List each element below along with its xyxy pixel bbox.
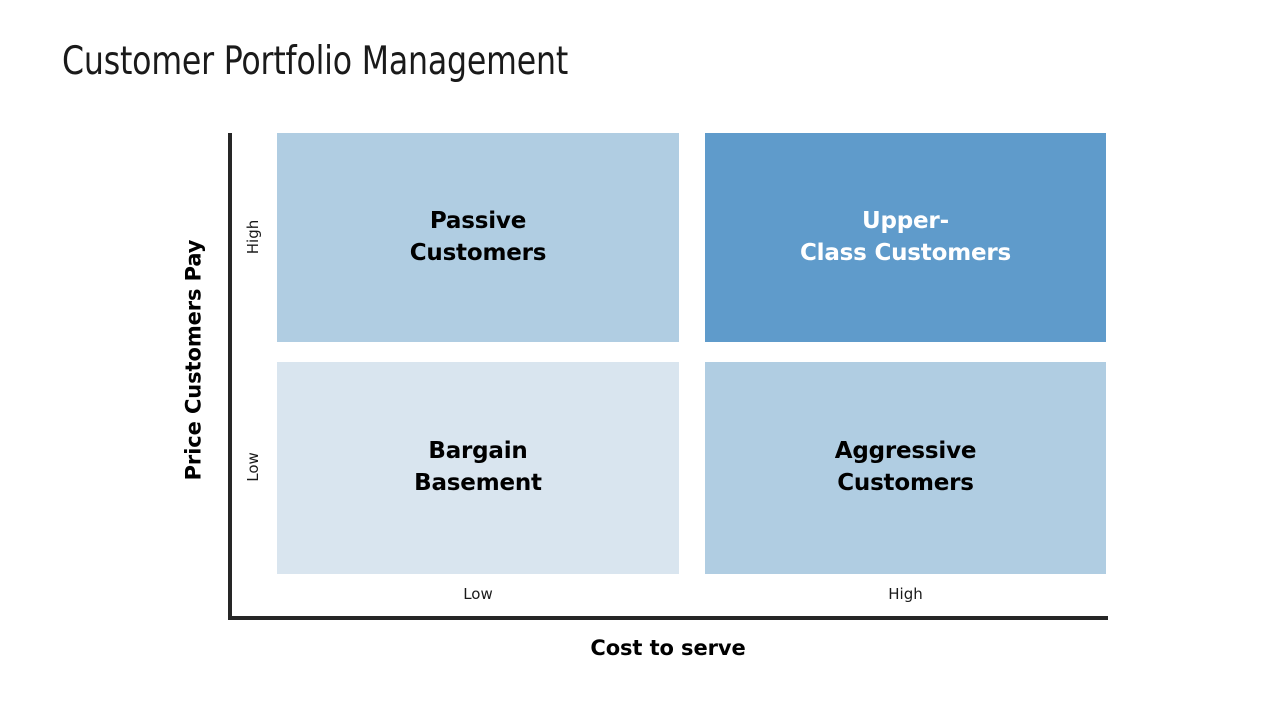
y-axis-tick-high-label: High [244, 220, 262, 254]
y-axis-tick-low: Low [236, 432, 270, 502]
quadrant-aggressive-customers-label: Aggressive Customers [835, 436, 977, 499]
quadrant-aggressive-customers[interactable]: Aggressive Customers [705, 362, 1106, 574]
y-axis-tick-low-label: Low [244, 452, 262, 482]
quadrant-upper-class-customers-label: Upper- Class Customers [800, 206, 1011, 269]
quadrant-upper-class-customers[interactable]: Upper- Class Customers [705, 133, 1106, 342]
x-axis-tick-high-label: High [705, 585, 1106, 603]
slide-canvas: Customer Portfolio Management Price Cust… [0, 0, 1280, 720]
y-axis-line [228, 133, 232, 620]
quadrant-bargain-basement-label: Bargain Basement [414, 436, 542, 499]
y-axis-tick-high: High [236, 202, 270, 272]
x-axis-line [228, 616, 1108, 620]
quadrant-passive-customers-label: Passive Customers [410, 206, 547, 269]
y-axis-title: Price Customers Pay [163, 200, 223, 520]
x-axis-tick-low-label: Low [277, 585, 679, 603]
y-axis-title-text: Price Customers Pay [181, 240, 205, 481]
x-axis-title-text: Cost to serve [228, 636, 1108, 660]
quadrant-bargain-basement[interactable]: Bargain Basement [277, 362, 679, 574]
quadrant-passive-customers[interactable]: Passive Customers [277, 133, 679, 342]
page-title: Customer Portfolio Management [62, 41, 568, 84]
